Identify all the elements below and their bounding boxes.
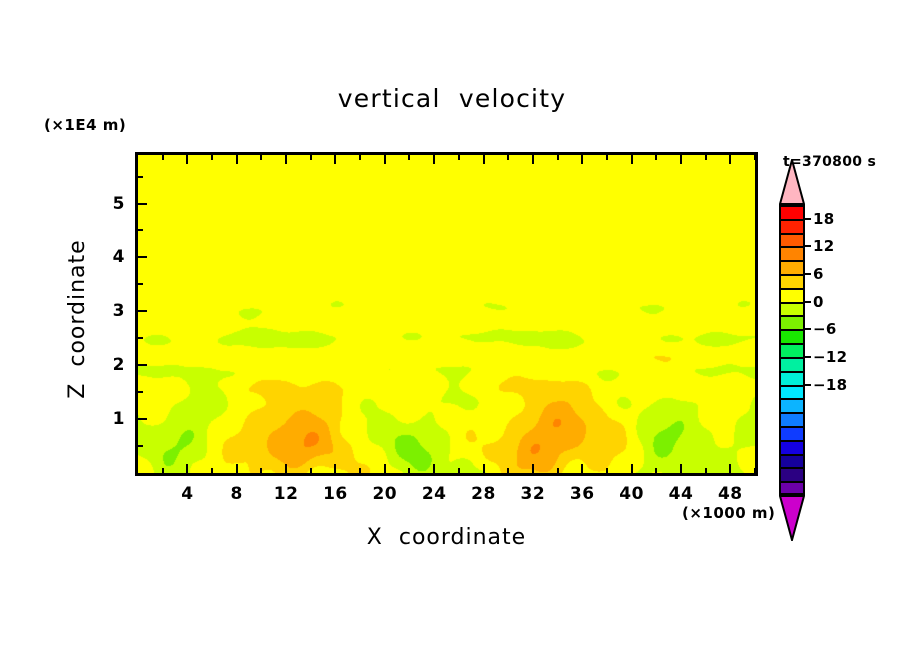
x-tick-label: 28 <box>471 484 496 504</box>
x-minor-tick <box>705 468 707 473</box>
colorbar-tick <box>805 356 811 358</box>
colorbar-separator <box>779 233 805 235</box>
x-axis-title: X coordinate <box>135 527 758 549</box>
y-minor-tick <box>138 337 143 339</box>
colorbar-band <box>779 246 805 260</box>
x-tick-label: 32 <box>521 484 546 504</box>
x-minor-tick-top <box>408 155 410 160</box>
x-minor-tick-top <box>557 155 559 160</box>
x-minor-tick-top <box>359 155 361 160</box>
x-minor-tick <box>606 468 608 473</box>
x-tick <box>483 464 485 473</box>
x-tick <box>285 464 287 473</box>
colorbar-band <box>779 426 805 440</box>
x-minor-tick-top <box>310 155 312 160</box>
x-tick-top <box>334 155 336 164</box>
x-tick-top <box>285 155 287 164</box>
colorbar-cap-low <box>779 495 805 541</box>
colorbar-separator <box>779 219 805 221</box>
x-tick-label: 16 <box>323 484 348 504</box>
x-tick <box>236 464 238 473</box>
colorbar-band <box>779 260 805 274</box>
x-minor-tick <box>754 468 756 473</box>
colorbar-separator <box>779 205 805 207</box>
x-tick-top <box>631 155 633 164</box>
x-tick <box>384 464 386 473</box>
x-tick-top <box>186 155 188 164</box>
x-minor-tick-top <box>705 155 707 160</box>
x-tick-top <box>581 155 583 164</box>
x-tick-label: 8 <box>231 484 243 504</box>
colorbar-band <box>779 233 805 247</box>
colorbar-separator <box>779 412 805 414</box>
x-tick-top <box>483 155 485 164</box>
colorbar-band <box>779 398 805 412</box>
colorbar-band <box>779 385 805 399</box>
colorbar-band <box>779 454 805 468</box>
vertical-velocity-field <box>138 155 755 473</box>
colorbar-tick-label: −6 <box>813 320 837 338</box>
x-minor-tick <box>408 468 410 473</box>
colorbar-separator <box>779 357 805 359</box>
colorbar-band <box>779 205 805 219</box>
colorbar-separator <box>779 288 805 290</box>
colorbar-tick-label: 18 <box>813 210 834 228</box>
colorbar-tick-label: 12 <box>813 237 834 255</box>
colorbar-band <box>779 371 805 385</box>
x-minor-tick <box>507 468 509 473</box>
x-minor-tick <box>310 468 312 473</box>
y-tick-label: 2 <box>95 355 125 375</box>
x-tick <box>680 464 682 473</box>
colorbar-tick <box>805 384 811 386</box>
x-minor-tick-top <box>211 155 213 160</box>
y-tick-label: 3 <box>95 301 125 321</box>
x-tick-top <box>384 155 386 164</box>
colorbar-cap-high <box>779 159 805 205</box>
x-minor-tick <box>260 468 262 473</box>
x-tick <box>729 464 731 473</box>
colorbar-separator <box>779 246 805 248</box>
y-axis-title: Z coordinate <box>67 209 89 429</box>
x-axis-unit-label: (×1000 m) <box>682 506 775 521</box>
colorbar-separator <box>779 343 805 345</box>
colorbar-separator <box>779 260 805 262</box>
colorbar-separator <box>779 467 805 469</box>
colorbar-tick <box>805 218 811 220</box>
y-minor-tick <box>138 283 143 285</box>
y-tick-label: 5 <box>95 194 125 214</box>
colorbar-tick-label: 0 <box>813 293 824 311</box>
x-minor-tick <box>458 468 460 473</box>
x-minor-tick <box>655 468 657 473</box>
x-minor-tick <box>162 468 164 473</box>
y-tick <box>138 256 147 258</box>
colorbar-band <box>779 288 805 302</box>
colorbar-separator <box>779 426 805 428</box>
colorbar-tick <box>805 273 811 275</box>
x-tick-top <box>729 155 731 164</box>
x-tick <box>334 464 336 473</box>
colorbar-tick <box>805 328 811 330</box>
page-title: vertical velocity <box>0 86 904 111</box>
x-tick-label: 4 <box>181 484 193 504</box>
colorbar-tick-label: −12 <box>813 348 847 366</box>
contour-plot-area <box>135 152 758 476</box>
y-minor-tick <box>138 229 143 231</box>
colorbar-separator <box>779 315 805 317</box>
colorbar-band <box>779 274 805 288</box>
colorbar-separator <box>779 329 805 331</box>
colorbar-band <box>779 219 805 233</box>
x-minor-tick-top <box>162 155 164 160</box>
x-minor-tick <box>557 468 559 473</box>
colorbar-band <box>779 315 805 329</box>
x-minor-tick-top <box>606 155 608 160</box>
y-tick <box>138 203 147 205</box>
x-tick-top <box>433 155 435 164</box>
colorbar-tick <box>805 245 811 247</box>
x-tick-label: 36 <box>570 484 595 504</box>
y-tick <box>138 310 147 312</box>
x-minor-tick <box>359 468 361 473</box>
colorbar-band <box>779 440 805 454</box>
colorbar-tick <box>805 301 811 303</box>
y-tick <box>138 364 147 366</box>
x-tick-label: 24 <box>422 484 447 504</box>
colorbar-separator <box>779 398 805 400</box>
x-tick-label: 20 <box>372 484 397 504</box>
colorbar-band <box>779 302 805 316</box>
colorbar-separator <box>779 440 805 442</box>
colorbar-separator <box>779 274 805 276</box>
x-tick-label: 48 <box>718 484 743 504</box>
y-minor-tick <box>138 391 143 393</box>
x-minor-tick <box>211 468 213 473</box>
x-tick-top <box>532 155 534 164</box>
y-tick-label: 4 <box>95 247 125 267</box>
x-minor-tick-top <box>260 155 262 160</box>
colorbar-separator <box>779 385 805 387</box>
x-tick-top <box>236 155 238 164</box>
x-tick-label: 44 <box>669 484 694 504</box>
y-minor-tick <box>138 176 143 178</box>
x-tick-top <box>680 155 682 164</box>
colorbar-separator <box>779 371 805 373</box>
colorbar-band <box>779 467 805 481</box>
x-tick <box>186 464 188 473</box>
x-tick <box>631 464 633 473</box>
colorbar-separator <box>779 481 805 483</box>
x-tick-label: 12 <box>274 484 299 504</box>
x-minor-tick-top <box>507 155 509 160</box>
colorbar-band <box>779 329 805 343</box>
x-minor-tick-top <box>754 155 756 160</box>
colorbar-legend: 181260−6−12−18 <box>779 205 805 495</box>
x-tick-label: 40 <box>619 484 644 504</box>
x-tick <box>532 464 534 473</box>
x-minor-tick-top <box>655 155 657 160</box>
x-tick <box>433 464 435 473</box>
y-tick <box>138 418 147 420</box>
y-axis-unit-label: (×1E4 m) <box>44 118 126 133</box>
colorbar-tick-label: 6 <box>813 265 824 283</box>
x-minor-tick-top <box>458 155 460 160</box>
figure-canvas: vertical velocity (×1E4 m) (×1000 m) t=3… <box>0 0 904 654</box>
colorbar-band <box>779 343 805 357</box>
y-minor-tick <box>138 445 143 447</box>
colorbar-band <box>779 412 805 426</box>
colorbar-separator <box>779 302 805 304</box>
colorbar-tick-label: −18 <box>813 376 847 394</box>
y-tick-label: 1 <box>95 409 125 429</box>
x-tick <box>581 464 583 473</box>
colorbar-separator <box>779 454 805 456</box>
colorbar-band <box>779 357 805 371</box>
